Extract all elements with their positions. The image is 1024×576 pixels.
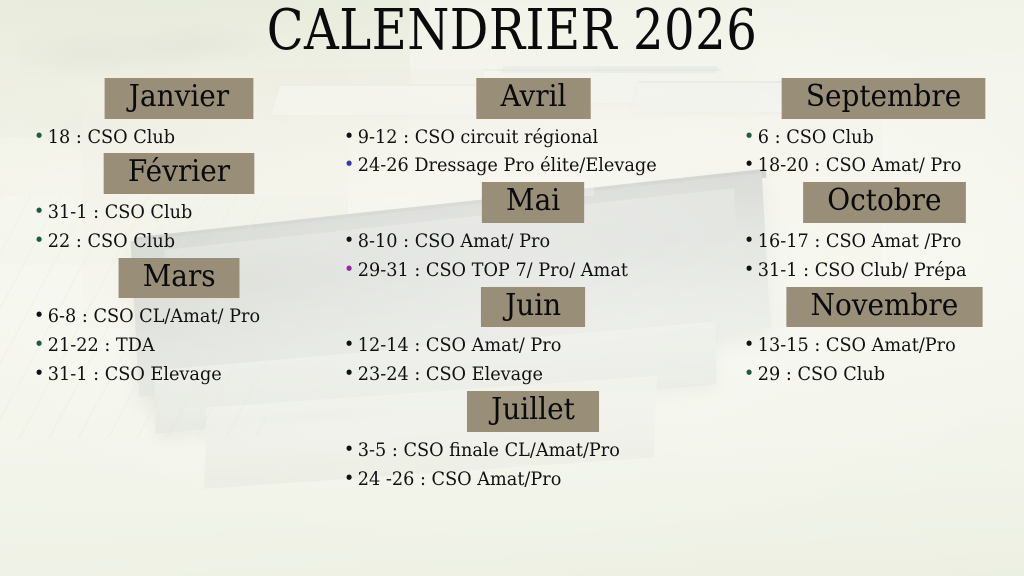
month-name-septembre: Septembre — [782, 78, 986, 119]
month-block-octobre: Octobre16-17 : CSO Amat /Pro31-1 : CSO C… — [726, 182, 1024, 284]
month-header-wrap: Février — [14, 153, 344, 194]
event-item: 24 -26 : CSO Amat/Pro — [342, 465, 701, 494]
event-item: 21-22 : TDA — [32, 331, 322, 360]
event-item: 23-24 : CSO Elevage — [342, 360, 701, 389]
event-item: 3-5 : CSO finale CL/Amat/Pro — [342, 436, 701, 465]
month-block-mars: Mars6-8 : CSO CL/Amat/ Pro21-22 : TDA31-… — [14, 258, 344, 389]
calendar-poster: CALENDRIER 2026 Janvier18 : CSO ClubFévr… — [0, 0, 1024, 576]
event-item: 29 : CSO Club — [742, 360, 1004, 389]
calendar-column-left: Janvier18 : CSO ClubFévrier31-1 : CSO Cl… — [14, 78, 344, 391]
event-list-juin: 12-14 : CSO Amat/ Pro23-24 : CSO Elevage — [342, 331, 728, 389]
month-block-novembre: Novembre13-15 : CSO Amat/Pro29 : CSO Clu… — [726, 287, 1024, 389]
month-block-juin: Juin12-14 : CSO Amat/ Pro23-24 : CSO Ele… — [328, 287, 728, 389]
calendar-column-right: Septembre6 : CSO Club18-20 : CSO Amat/ P… — [726, 78, 1024, 391]
month-name-janvier: Janvier — [105, 78, 254, 119]
event-item: 6-8 : CSO CL/Amat/ Pro — [32, 302, 322, 331]
month-header-wrap: Mars — [14, 258, 344, 299]
calendar-column-middle: Avril9-12 : CSO circuit régional24-26 Dr… — [328, 78, 728, 495]
event-list-fevrier: 31-1 : CSO Club22 : CSO Club — [32, 198, 344, 256]
event-item: 18-20 : CSO Amat/ Pro — [742, 151, 1004, 180]
event-item: 31-1 : CSO Club/ Prépa — [742, 256, 1004, 285]
month-name-mai: Mai — [482, 182, 584, 223]
event-item: 29-31 : CSO TOP 7/ Pro/ Amat — [342, 256, 701, 285]
event-list-avril: 9-12 : CSO circuit régional24-26 Dressag… — [342, 123, 728, 181]
event-list-novembre: 13-15 : CSO Amat/Pro29 : CSO Club — [742, 331, 1024, 389]
month-name-novembre: Novembre — [786, 287, 982, 328]
month-block-fevrier: Février31-1 : CSO Club22 : CSO Club — [14, 153, 344, 255]
page-title: CALENDRIER 2026 — [72, 2, 953, 61]
event-list-octobre: 16-17 : CSO Amat /Pro31-1 : CSO Club/ Pr… — [742, 227, 1024, 285]
month-name-fevrier: Février — [104, 153, 255, 194]
month-header-wrap: Juillet — [328, 391, 728, 432]
month-block-juillet: Juillet3-5 : CSO finale CL/Amat/Pro24 -2… — [328, 391, 728, 493]
event-item: 31-1 : CSO Elevage — [32, 360, 322, 389]
month-header-wrap: Octobre — [726, 182, 1024, 223]
event-list-septembre: 6 : CSO Club18-20 : CSO Amat/ Pro — [742, 123, 1024, 181]
event-list-mars: 6-8 : CSO CL/Amat/ Pro21-22 : TDA31-1 : … — [32, 302, 344, 389]
month-block-janvier: Janvier18 : CSO Club — [14, 78, 344, 151]
month-block-septembre: Septembre6 : CSO Club18-20 : CSO Amat/ P… — [726, 78, 1024, 180]
month-name-juillet: Juillet — [467, 391, 599, 432]
month-name-octobre: Octobre — [803, 182, 966, 223]
month-header-wrap: Janvier — [14, 78, 344, 119]
event-item: 9-12 : CSO circuit régional — [342, 123, 701, 152]
month-name-mars: Mars — [118, 258, 239, 299]
event-item: 6 : CSO Club — [742, 123, 1004, 152]
month-name-avril: Avril — [476, 78, 590, 119]
event-item: 22 : CSO Club — [32, 227, 322, 256]
event-item: 18 : CSO Club — [32, 123, 322, 152]
month-header-wrap: Juin — [328, 287, 728, 328]
month-block-avril: Avril9-12 : CSO circuit régional24-26 Dr… — [328, 78, 728, 180]
event-list-mai: 8-10 : CSO Amat/ Pro29-31 : CSO TOP 7/ P… — [342, 227, 728, 285]
event-item: 13-15 : CSO Amat/Pro — [742, 331, 1004, 360]
event-list-janvier: 18 : CSO Club — [32, 123, 344, 152]
month-name-juin: Juin — [481, 287, 585, 328]
event-item: 8-10 : CSO Amat/ Pro — [342, 227, 701, 256]
month-header-wrap: Mai — [328, 182, 728, 223]
event-item: 31-1 : CSO Club — [32, 198, 322, 227]
month-header-wrap: Avril — [328, 78, 728, 119]
event-item: 12-14 : CSO Amat/ Pro — [342, 331, 701, 360]
month-header-wrap: Novembre — [726, 287, 1024, 328]
month-block-mai: Mai8-10 : CSO Amat/ Pro29-31 : CSO TOP 7… — [328, 182, 728, 284]
event-item: 24-26 Dressage Pro élite/Elevage — [342, 151, 701, 180]
event-item: 16-17 : CSO Amat /Pro — [742, 227, 1004, 256]
month-header-wrap: Septembre — [726, 78, 1024, 119]
event-list-juillet: 3-5 : CSO finale CL/Amat/Pro24 -26 : CSO… — [342, 436, 728, 494]
poster-content: CALENDRIER 2026 Janvier18 : CSO ClubFévr… — [0, 0, 1024, 576]
